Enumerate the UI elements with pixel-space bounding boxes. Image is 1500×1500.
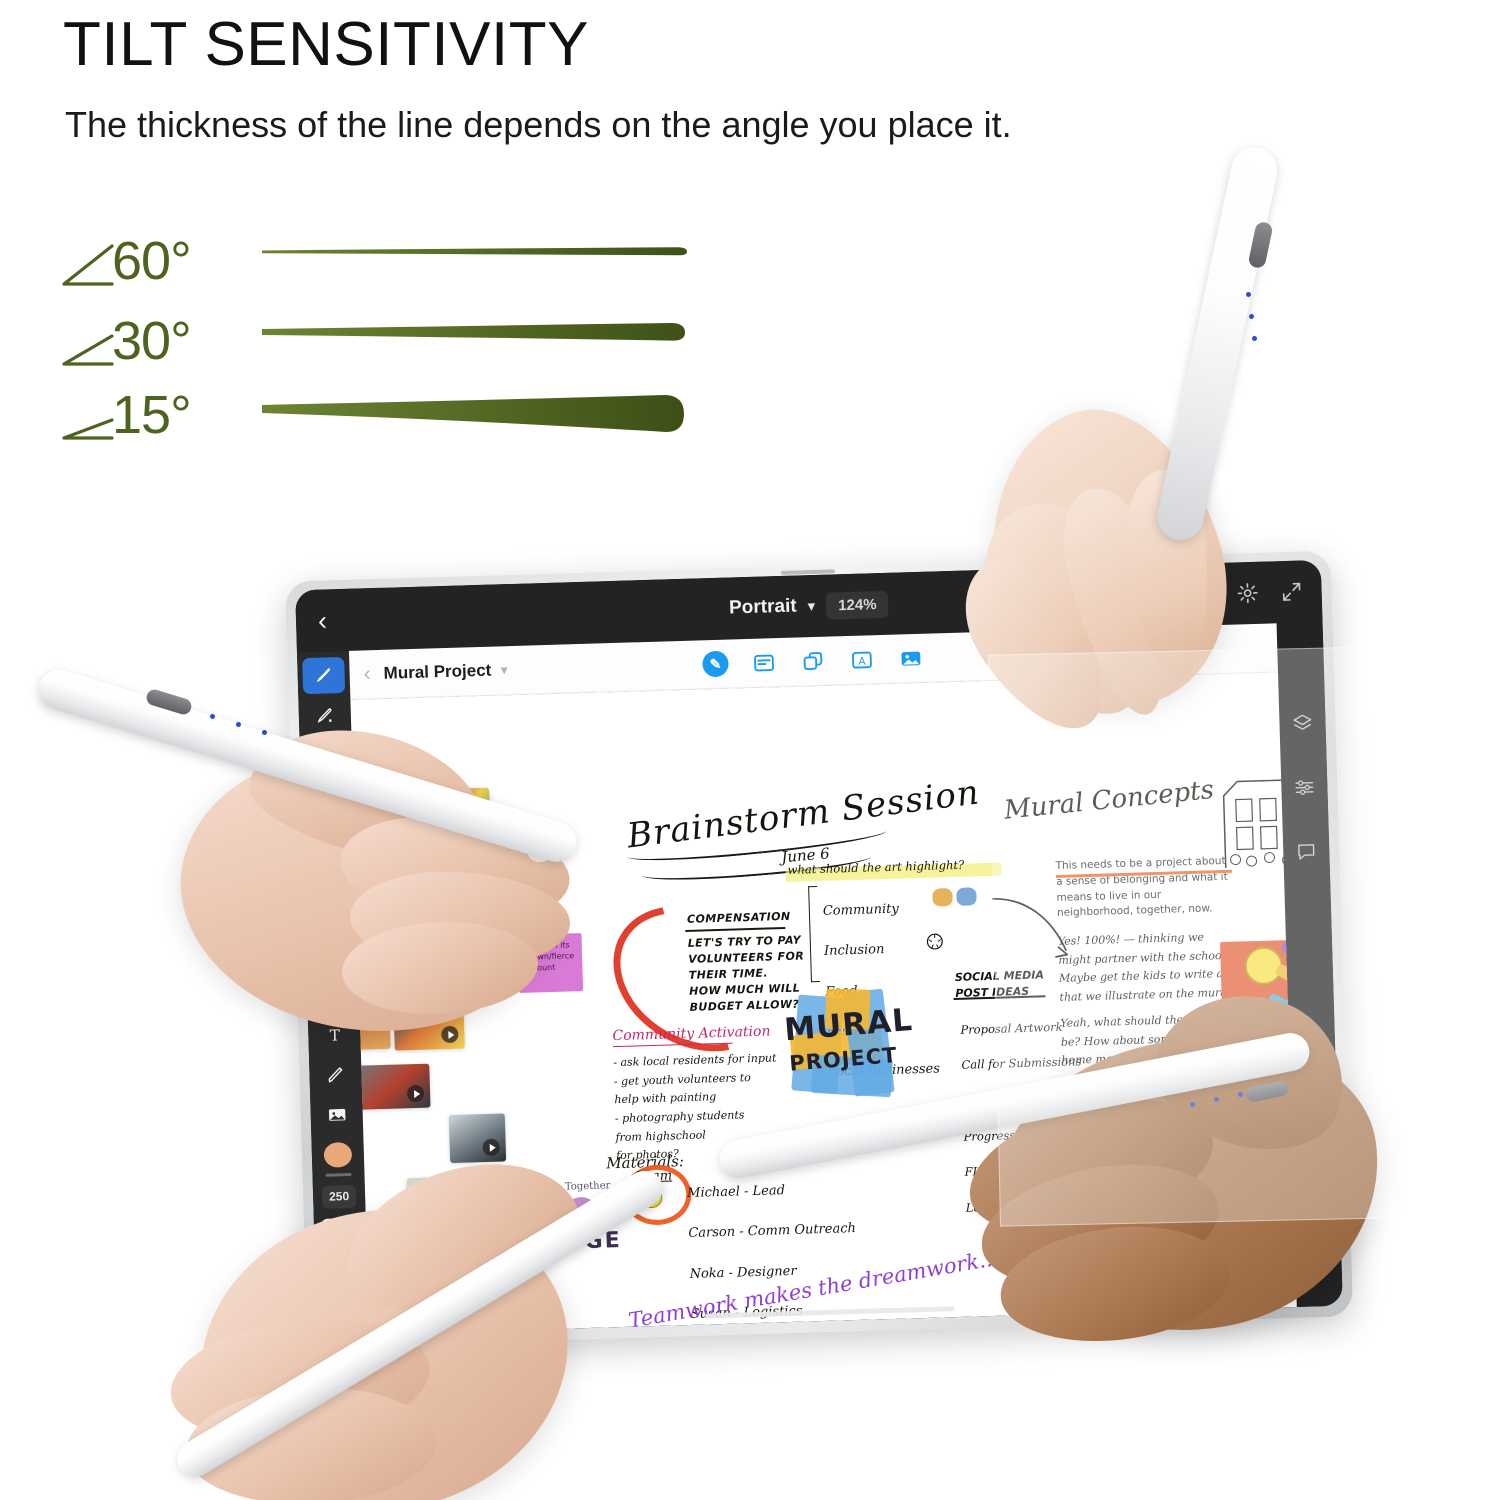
led-indicator	[262, 730, 267, 735]
stylus-bottom-left	[180, 1090, 800, 1500]
led-indicator	[1249, 314, 1254, 319]
zoom-level[interactable]: 124%	[826, 590, 889, 619]
led-indicator	[210, 714, 215, 719]
angle-indicator-15: 15°	[60, 392, 210, 462]
comment-icon[interactable]	[1295, 840, 1318, 863]
angle-indicator-60: 60°	[60, 238, 210, 308]
list-bracket	[808, 886, 820, 982]
page-title: TILT SENSITIVITY	[63, 14, 589, 76]
angle-label-30: 30°	[112, 314, 191, 368]
led-indicator	[1246, 292, 1251, 297]
shapes-icon[interactable]	[799, 647, 827, 675]
stylus-left	[40, 638, 660, 898]
list-item: Community	[823, 899, 936, 922]
note-icon[interactable]	[750, 649, 778, 677]
chevron-down-icon[interactable]: ▾	[807, 597, 815, 615]
led-indicator	[1238, 1092, 1243, 1097]
text-box-icon[interactable]: A	[848, 646, 876, 674]
angle-icon	[60, 394, 114, 444]
layers-icon[interactable]	[1291, 712, 1314, 735]
led-indicator	[1214, 1097, 1219, 1102]
doodle-ball	[926, 932, 945, 951]
stylus-top-right	[1216, 148, 1336, 568]
brush-round-icon[interactable]: ✎	[702, 651, 729, 678]
svg-text:A: A	[858, 655, 866, 667]
concepts-heading: Mural Concepts	[1003, 775, 1216, 826]
image-icon[interactable]	[897, 644, 925, 672]
product-feature-image: TILT SENSITIVITY The thickness of the li…	[0, 0, 1500, 1500]
tilt-stroke-30	[260, 318, 690, 348]
tilt-stroke-60	[260, 238, 690, 264]
page-subtitle: The thickness of the line depends on the…	[65, 105, 1012, 145]
orientation-zoom-group: Portrait ▾ 124%	[729, 590, 889, 622]
power-button[interactable]	[1245, 1080, 1289, 1103]
angle-icon	[60, 240, 114, 290]
angle-icon	[60, 320, 114, 370]
angle-indicator-30: 30°	[60, 318, 210, 388]
tilt-stroke-15	[260, 392, 690, 440]
concepts-typed-note: This needs to be a project about a sense…	[1055, 854, 1233, 922]
orientation-label[interactable]: Portrait	[729, 596, 797, 620]
chevron-left-icon[interactable]: ‹	[318, 607, 328, 634]
led-indicator	[236, 722, 241, 727]
angle-label-15: 15°	[112, 388, 191, 442]
led-indicator	[1252, 336, 1257, 341]
led-indicator	[1190, 1102, 1195, 1107]
doodle-people	[956, 887, 977, 906]
list-item: Inclusion	[824, 939, 937, 962]
app-toolbar-icons: ✎ A	[702, 644, 925, 678]
doodle-people	[932, 888, 953, 907]
expand-icon[interactable]	[1279, 579, 1304, 604]
angle-label-60: 60°	[112, 234, 191, 288]
adjust-icon[interactable]	[1293, 776, 1316, 799]
